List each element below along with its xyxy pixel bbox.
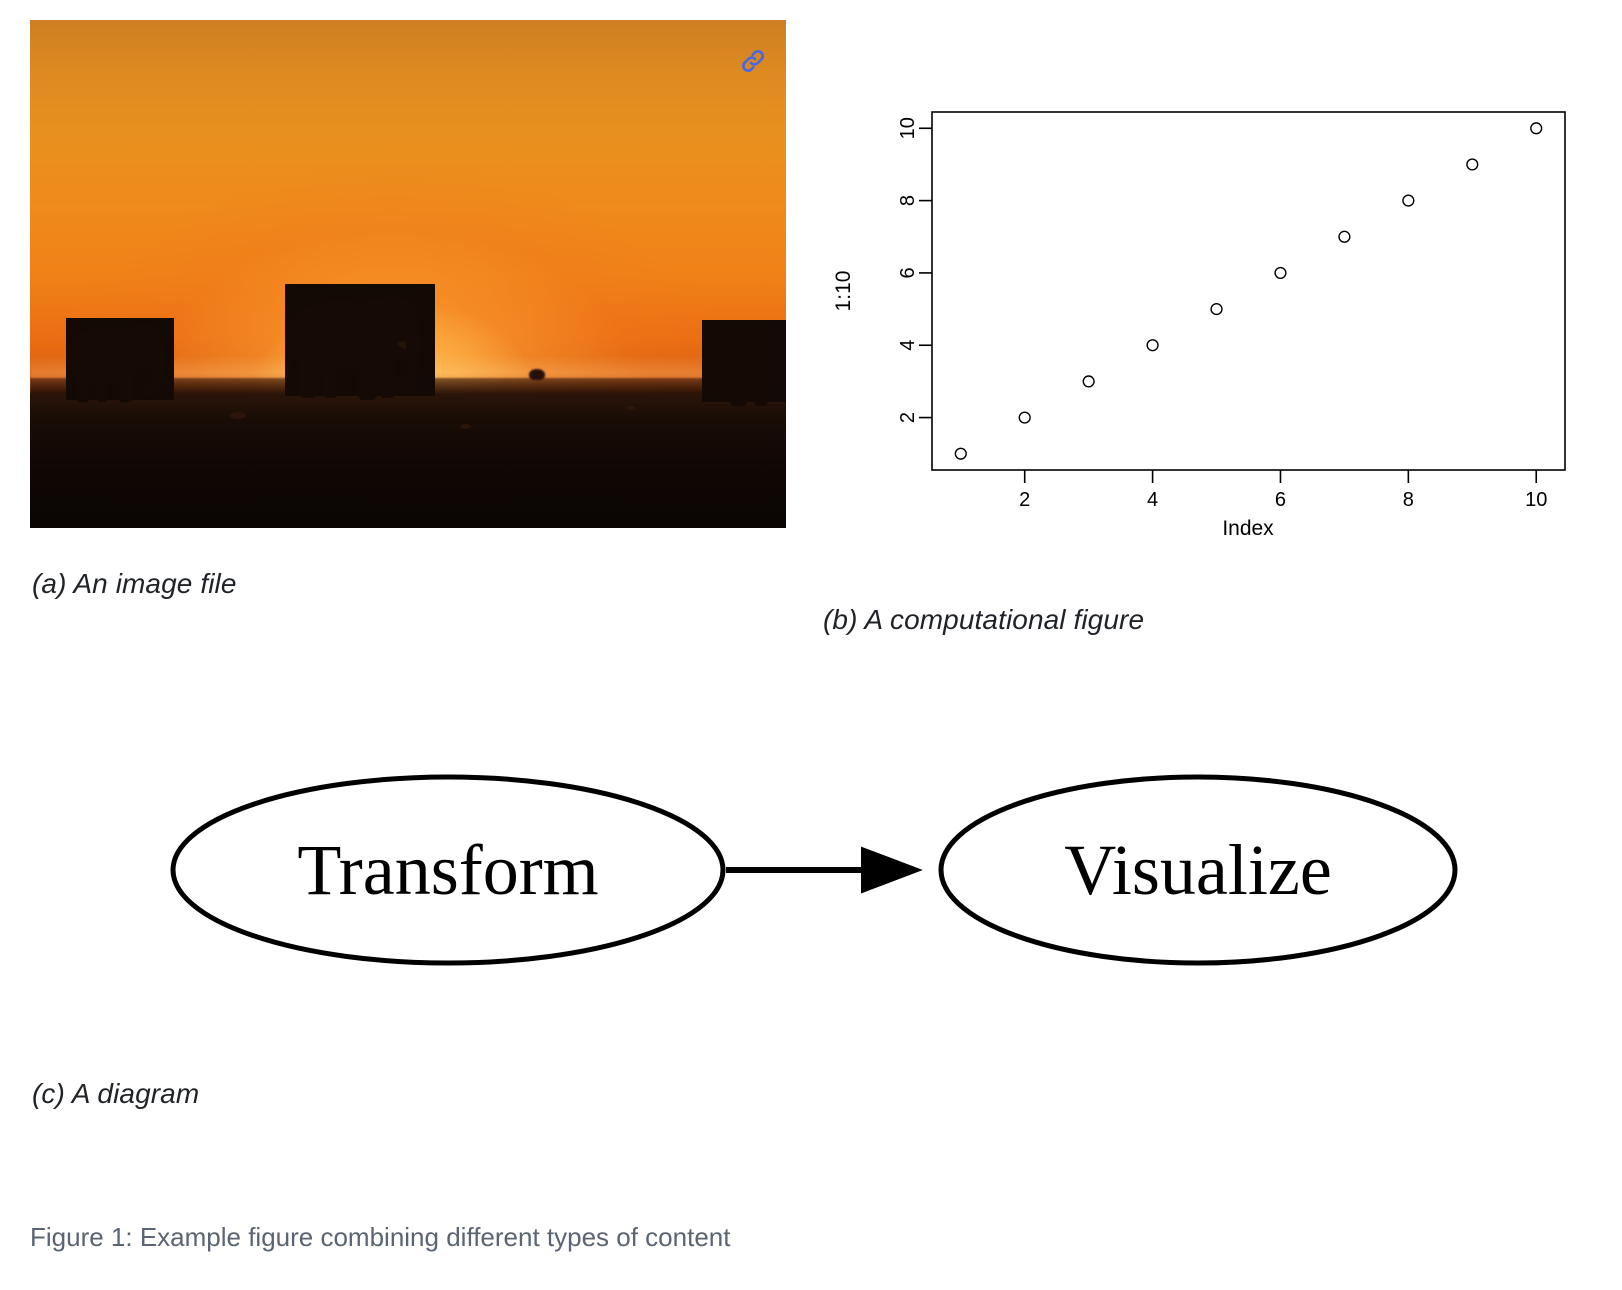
transform-visualize-diagram: Transform Visualize — [150, 745, 1470, 995]
elephant-silhouette-center — [285, 284, 435, 396]
x-axis-label: Index — [1222, 517, 1274, 540]
diagram-panel: Transform Visualize — [150, 745, 1470, 995]
node-visualize-label: Visualize — [1064, 830, 1332, 910]
node-transform[interactable]: Transform — [173, 777, 723, 963]
photo-ground — [30, 393, 786, 528]
elephant-silhouette-right — [702, 320, 786, 402]
plot-frame — [932, 112, 1565, 470]
x-tick-label: 2 — [1019, 489, 1030, 511]
arrowhead-icon — [862, 848, 920, 892]
link-icon[interactable] — [738, 46, 768, 76]
subcaption-c: (c) A diagram — [32, 1078, 199, 1110]
figure-caption: Figure 1: Example figure combining diffe… — [30, 1222, 730, 1253]
ground-detail — [626, 406, 635, 410]
y-axis — [919, 128, 932, 417]
y-tick-label: 2 — [897, 412, 919, 423]
y-axis-label: 1:10 — [832, 271, 855, 312]
x-tick-label: 10 — [1525, 489, 1547, 511]
y-tick-label: 6 — [897, 267, 919, 278]
y-tick-labels: 246810 — [897, 117, 919, 423]
computational-figure-panel: 246810 246810 1:10 Index — [820, 88, 1580, 558]
y-tick-label: 8 — [897, 195, 919, 206]
y-tick-label: 10 — [897, 117, 919, 139]
node-visualize[interactable]: Visualize — [941, 777, 1455, 963]
elephant-silhouette-left — [66, 318, 174, 400]
x-axis — [1025, 470, 1537, 483]
elephant-sunset-photo — [30, 20, 786, 528]
ground-detail — [460, 424, 471, 429]
image-file-panel — [30, 20, 786, 528]
ground-detail — [230, 412, 246, 419]
x-tick-label: 8 — [1403, 489, 1414, 511]
scatter-plot: 246810 246810 1:10 Index — [820, 88, 1580, 558]
subcaption-b: (b) A computational figure — [823, 604, 1144, 636]
x-tick-label: 4 — [1147, 489, 1158, 511]
x-tick-label: 6 — [1275, 489, 1286, 511]
x-tick-labels: 246810 — [1019, 489, 1547, 511]
y-tick-label: 4 — [897, 340, 919, 351]
subcaption-a: (a) An image file — [32, 568, 237, 600]
node-transform-label: Transform — [297, 830, 598, 910]
edge-transform-to-visualize — [726, 848, 920, 892]
